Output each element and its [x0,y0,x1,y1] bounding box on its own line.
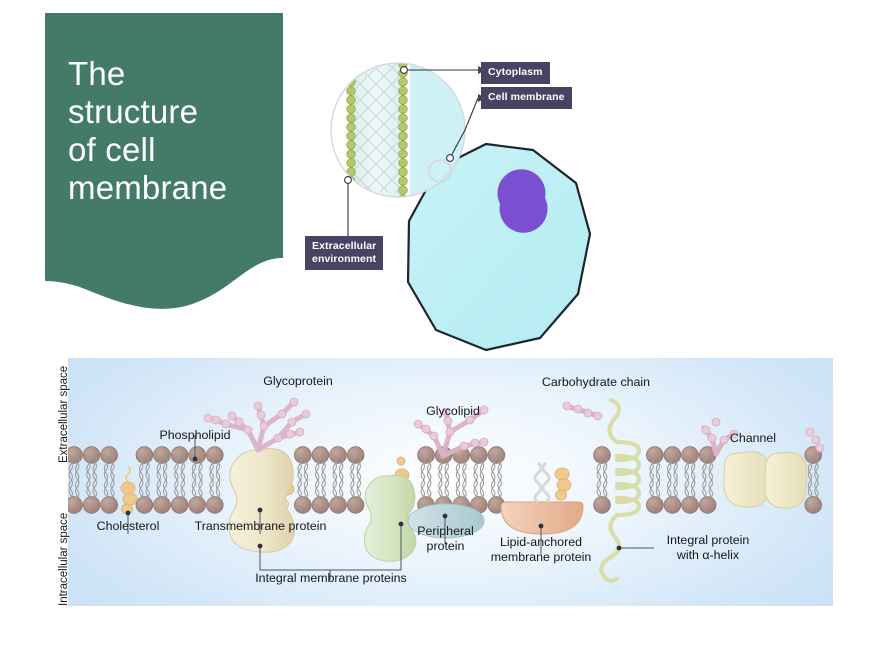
phospholipid-head [206,497,223,514]
label-phospholipid: Phospholipid [130,428,260,443]
phospholipid-head [312,447,329,464]
label-glycolipid: Glycolipid [398,404,508,419]
cell-illustration-graphic [290,20,630,360]
phospholipid-head [189,447,206,464]
page-title: The structure of cell membrane [68,55,278,207]
phospholipid-head [664,447,681,464]
phospholipid-head [682,447,699,464]
title-panel: The structure of cell membrane [45,13,283,313]
phospholipid-head [68,497,82,514]
callout-cytoplasm[interactable]: Cytoplasm [481,62,550,84]
label-carbohydrate-chain: Carbohydrate chain [511,375,681,390]
label-transmembrane-protein: Transmembrane protein [178,519,343,534]
phospholipid-head [83,497,100,514]
phospholipid-head [682,497,699,514]
phospholipid-head [805,497,822,514]
phospholipid-head [470,447,487,464]
label-intracellular-space: Intracellular space [58,513,70,606]
phospholipid-head [294,497,311,514]
phospholipid-head [154,447,171,464]
nucleus [497,169,547,232]
label-integral-membrane-proteins: Integral membrane proteins [226,571,436,586]
phospholipid-head [101,447,118,464]
lipid-anchored-protein-shape [501,463,583,534]
phospholipid-head [206,447,223,464]
phospholipid-head [68,447,82,464]
phospholipid-head [136,447,153,464]
phospholipid-head [347,497,364,514]
membrane-diagram-graphic [68,358,833,606]
transmembrane-protein-shape [229,449,294,553]
callout-cell-membrane[interactable]: Cell membrane [481,87,572,109]
cell-illustration [290,20,620,350]
phospholipid-head [189,497,206,514]
phospholipid-head [699,497,716,514]
label-integral-protein-alpha-helix: Integral protein with α-helix [638,533,778,562]
label-cholesterol: Cholesterol [68,519,188,534]
phospholipid-head [294,447,311,464]
channel-protein-shape [724,452,807,508]
phospholipid-head [154,497,171,514]
phospholipid-head [594,497,611,514]
phospholipid-head [488,447,505,464]
phospholipid-head [646,447,663,464]
membrane-diagram-panel: Glycoprotein Phospholipid Glycolipid Car… [68,358,833,606]
label-extracellular-space: Extracellular space [58,366,70,463]
phospholipid-head [664,497,681,514]
label-glycoprotein: Glycoprotein [233,374,363,389]
label-lipid-anchored-membrane-protein: Lipid-anchored membrane protein [466,535,616,564]
phospholipid-head [83,447,100,464]
phospholipid-head [171,447,188,464]
phospholipid-head [312,497,329,514]
phospholipid-head [418,447,435,464]
phospholipid-head [594,447,611,464]
phospholipid-head [136,497,153,514]
callout-extracellular-environment[interactable]: Extracellular environment [305,236,383,270]
phospholipid-head [347,447,364,464]
phospholipid-head [171,497,188,514]
phospholipid-head [330,447,347,464]
slide-canvas: The structure of cell membrane [0,0,880,660]
label-channel: Channel [698,431,808,446]
phospholipid-head [646,497,663,514]
phospholipid-head [330,497,347,514]
phospholipid-head [101,497,118,514]
